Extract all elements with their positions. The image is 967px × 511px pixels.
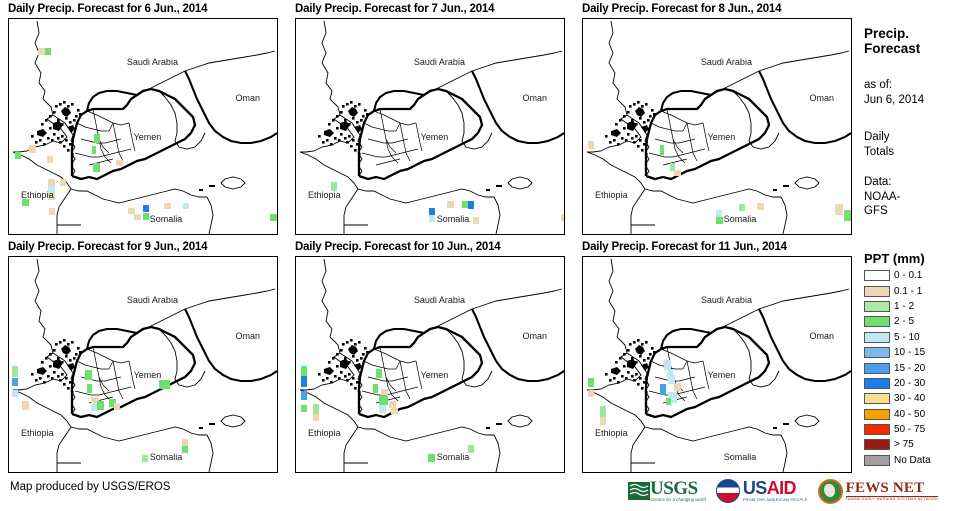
precip-cell <box>429 215 435 222</box>
legend-color-swatch <box>864 455 890 466</box>
legend-row: 50 - 75 <box>864 422 967 437</box>
precip-cell <box>660 145 664 155</box>
legend-label: 2 - 5 <box>894 316 914 327</box>
map-credit: Map produced by USGS/EROS <box>10 481 170 493</box>
panel-title: Daily Precip. Forecast for 10 Jun., 2014 <box>293 240 579 255</box>
usaid-logo-subtext: FROM THE AMERICAN PEOPLE <box>743 497 808 502</box>
legend-label: 20 - 30 <box>894 378 925 389</box>
map-label-yemen: Yemen <box>708 132 736 142</box>
precip-cell <box>182 439 188 446</box>
legend-row: > 75 <box>864 437 967 452</box>
precip-cell <box>48 179 54 186</box>
usaid-seal-icon <box>716 479 740 503</box>
usaid-logo-text: USAID <box>743 480 808 497</box>
legend-color-swatch <box>864 301 890 312</box>
precip-cell <box>49 208 55 215</box>
precip-cell <box>588 390 594 398</box>
fews-net-logo-subtext: FAMINE EARLY WARNING SYSTEMS NETWORK <box>846 497 938 502</box>
map-label-oman: Oman <box>809 331 834 341</box>
map-label-yemen: Yemen <box>421 132 449 142</box>
fews-net-logo: FEWS NET FAMINE EARLY WARNING SYSTEMS NE… <box>818 477 938 505</box>
precip-cell <box>301 405 307 413</box>
legend-color-swatch <box>864 286 890 297</box>
precip-cell <box>588 378 594 387</box>
forecast-panel-2: Daily Precip. Forecast for 7 Jun., 2014S… <box>293 2 579 239</box>
map-label-ethiopia: Ethiopia <box>21 428 54 438</box>
usgs-logo-subtext: science for a changing world <box>650 497 706 502</box>
precip-cell <box>12 378 17 387</box>
panel-title: Daily Precip. Forecast for 7 Jun., 2014 <box>293 2 579 17</box>
precip-cell <box>674 383 681 390</box>
map-label-oman: Oman <box>522 93 547 103</box>
legend-color-swatch <box>864 393 890 404</box>
map-label-somalia: Somalia <box>150 452 183 462</box>
sidebar-title-line2: Forecast <box>864 41 964 56</box>
usgs-wave-icon <box>628 482 650 500</box>
fews-globe-icon <box>818 479 843 504</box>
panel-title: Daily Precip. Forecast for 6 Jun., 2014 <box>6 2 292 17</box>
legend-row: 0 - 0.1 <box>864 268 967 283</box>
precip-cell <box>47 156 53 163</box>
precip-cell <box>12 390 17 398</box>
precip-cell <box>270 214 276 221</box>
map-label-ethiopia: Ethiopia <box>308 190 341 200</box>
precip-cell <box>22 199 28 206</box>
map-label-saudi-arabia: Saudi Arabia <box>701 295 752 305</box>
precip-cell <box>757 203 763 210</box>
precip-cell-layer <box>9 257 277 472</box>
map-label-somalia: Somalia <box>150 214 183 224</box>
map-label-ethiopia: Ethiopia <box>21 190 54 200</box>
precip-cell <box>93 163 101 172</box>
precip-cell-layer <box>583 257 851 472</box>
precip-cell <box>29 145 35 152</box>
precip-cell <box>22 401 30 410</box>
legend-row: 10 - 15 <box>864 345 967 360</box>
precip-cell <box>12 366 17 376</box>
legend-label: 0 - 0.1 <box>894 270 922 281</box>
legend-sidebar: Precip. Forecast as of: Jun 6, 2014 Dail… <box>862 0 967 511</box>
legend-color-swatch <box>864 332 890 343</box>
legend-row: 30 - 40 <box>864 391 967 406</box>
legend-row: 40 - 50 <box>864 407 967 422</box>
precip-cell-layer <box>583 19 851 234</box>
panel-title: Daily Precip. Forecast for 9 Jun., 2014 <box>6 240 292 255</box>
precip-cell <box>373 384 378 393</box>
daily-totals-block: Daily Totals <box>864 130 964 159</box>
precip-cell <box>381 389 387 395</box>
precip-cell <box>313 404 319 414</box>
map-label-oman: Oman <box>809 93 834 103</box>
as-of-block: as of: Jun 6, 2014 <box>864 78 964 107</box>
data-source-block: Data: NOAA- GFS <box>864 175 964 219</box>
precip-cell <box>301 376 307 387</box>
precip-cell <box>844 210 850 220</box>
fews-net-logo-text: FEWS NET <box>846 481 938 497</box>
data-source-line1: NOAA- <box>864 190 964 205</box>
map-label-saudi-arabia: Saudi Arabia <box>127 57 178 67</box>
precip-cell <box>94 134 99 143</box>
precip-cell <box>87 384 91 393</box>
legend-row: 1 - 2 <box>864 299 967 314</box>
map-label-saudi-arabia: Saudi Arabia <box>414 295 465 305</box>
precip-cell <box>391 408 398 414</box>
map-frame: Saudi ArabiaOmanYemenEthiopiaSomalia <box>295 18 565 235</box>
legend-label: 50 - 75 <box>894 424 925 435</box>
precip-cell <box>164 203 170 209</box>
map-label-somalia: Somalia <box>724 214 757 224</box>
forecast-panel-1: Daily Precip. Forecast for 6 Jun., 2014S… <box>6 2 292 239</box>
usaid-logo-text-aid: AID <box>767 478 796 498</box>
precip-cell <box>85 370 92 380</box>
precip-cell <box>739 204 745 211</box>
legend-color-swatch <box>864 378 890 389</box>
map-frame: Saudi ArabiaOmanYemenEthiopiaSomalia <box>8 18 278 235</box>
usgs-logo: USGS science for a changing world <box>628 477 706 505</box>
map-label-oman: Oman <box>522 331 547 341</box>
legend-color-swatch <box>864 424 890 435</box>
precip-cell <box>134 214 140 220</box>
panel-title: Daily Precip. Forecast for 11 Jun., 2014 <box>580 240 866 255</box>
map-label-ethiopia: Ethiopia <box>595 190 628 200</box>
precip-cell <box>313 414 319 422</box>
precip-cell <box>660 384 665 394</box>
precip-cell <box>143 205 149 213</box>
map-label-yemen: Yemen <box>134 132 162 142</box>
map-frame: Saudi ArabiaOmanYemenEthiopiaSomalia <box>8 256 278 473</box>
legend-color-swatch <box>864 270 890 281</box>
legend-label: 1 - 2 <box>894 301 914 312</box>
daily-totals-line1: Daily <box>864 130 964 145</box>
legend-label: 30 - 40 <box>894 393 925 404</box>
precip-cell <box>92 146 96 153</box>
precip-cell <box>301 366 307 376</box>
legend-label: 10 - 15 <box>894 347 925 358</box>
forecast-panel-grid: Daily Precip. Forecast for 6 Jun., 2014S… <box>0 0 855 470</box>
ppt-legend-list: 0 - 0.10.1 - 11 - 22 - 55 - 1010 - 1515 … <box>864 268 967 468</box>
data-source-label: Data: <box>864 175 964 190</box>
sidebar-title: Precip. Forecast <box>864 26 964 56</box>
ppt-legend-header: PPT (mm) <box>864 251 925 266</box>
daily-totals-line2: Totals <box>864 145 964 160</box>
map-label-yemen: Yemen <box>134 370 162 380</box>
usgs-logo-text: USGS <box>650 480 706 497</box>
legend-label: 0.1 - 1 <box>894 286 922 297</box>
map-frame: Saudi ArabiaOmanYemenEthiopiaSomalia <box>582 18 852 235</box>
precip-cell <box>674 170 680 176</box>
precip-cell <box>588 141 594 149</box>
legend-color-swatch <box>864 439 890 450</box>
precip-cell <box>15 152 21 159</box>
map-label-yemen: Yemen <box>708 370 736 380</box>
legend-row: 20 - 30 <box>864 376 967 391</box>
panel-title: Daily Precip. Forecast for 8 Jun., 2014 <box>580 2 866 17</box>
precip-cell <box>716 217 722 224</box>
precip-cell <box>159 380 170 389</box>
agency-logo-row: USGS science for a changing world USAID … <box>628 476 938 506</box>
precip-cell <box>561 214 565 222</box>
sidebar-title-line1: Precip. <box>864 26 964 41</box>
map-label-somalia: Somalia <box>437 214 470 224</box>
map-label-somalia: Somalia <box>437 452 470 462</box>
precip-cell <box>835 204 844 214</box>
precip-cell <box>91 403 97 411</box>
legend-label: 5 - 10 <box>894 332 920 343</box>
map-label-somalia: Somalia <box>724 452 757 462</box>
precip-cell <box>97 401 104 410</box>
precip-cell-layer <box>296 19 564 234</box>
precip-cell <box>428 454 435 462</box>
precip-cell <box>183 203 189 209</box>
forecast-panel-3: Daily Precip. Forecast for 8 Jun., 2014S… <box>580 2 866 239</box>
map-label-oman: Oman <box>235 93 260 103</box>
legend-label: > 75 <box>894 439 914 450</box>
legend-row: No Data <box>864 453 967 468</box>
legend-row: 0.1 - 1 <box>864 283 967 298</box>
legend-color-swatch <box>864 409 890 420</box>
map-frame: Saudi ArabiaOmanYemenEthiopiaSomalia <box>295 256 565 473</box>
precip-cell <box>60 179 66 186</box>
as-of-value: Jun 6, 2014 <box>864 93 964 108</box>
usaid-logo: USAID FROM THE AMERICAN PEOPLE <box>716 477 808 505</box>
legend-color-swatch <box>864 347 890 358</box>
legend-label: No Data <box>894 455 931 466</box>
precip-cell <box>468 201 474 209</box>
as-of-label: as of: <box>864 78 964 93</box>
legend-row: 15 - 20 <box>864 360 967 375</box>
precip-cell-layer <box>296 257 564 472</box>
map-label-saudi-arabia: Saudi Arabia <box>701 57 752 67</box>
legend-color-swatch <box>864 363 890 374</box>
precip-cell <box>182 446 188 454</box>
precip-cell <box>447 201 453 208</box>
precip-cell <box>142 455 148 462</box>
precip-cell <box>600 406 606 416</box>
map-frame: Saudi ArabiaOmanYemenEthiopiaSomalia <box>582 256 852 473</box>
usaid-logo-text-us: US <box>743 478 767 498</box>
precip-cell <box>114 403 120 409</box>
precip-cell <box>143 213 149 220</box>
legend-label: 40 - 50 <box>894 409 925 420</box>
precip-cell <box>379 405 386 413</box>
map-label-oman: Oman <box>235 331 260 341</box>
precip-cell <box>600 417 606 425</box>
forecast-panel-4: Daily Precip. Forecast for 9 Jun., 2014S… <box>6 240 292 477</box>
forecast-panel-5: Daily Precip. Forecast for 10 Jun., 2014… <box>293 240 579 477</box>
precip-cell <box>376 369 381 379</box>
data-source-line2: GFS <box>864 204 964 219</box>
map-label-ethiopia: Ethiopia <box>595 428 628 438</box>
precip-cell <box>666 398 671 406</box>
precip-cell <box>301 391 307 400</box>
legend-row: 5 - 10 <box>864 330 967 345</box>
map-label-saudi-arabia: Saudi Arabia <box>127 295 178 305</box>
map-label-saudi-arabia: Saudi Arabia <box>414 57 465 67</box>
map-label-ethiopia: Ethiopia <box>308 428 341 438</box>
forecast-panel-6: Daily Precip. Forecast for 11 Jun., 2014… <box>580 240 866 477</box>
legend-label: 15 - 20 <box>894 363 925 374</box>
precip-cell <box>45 48 51 56</box>
precip-cell <box>116 160 122 166</box>
map-label-yemen: Yemen <box>421 370 449 380</box>
precip-cell-layer <box>9 19 277 234</box>
precip-cell <box>473 217 479 223</box>
legend-row: 2 - 5 <box>864 314 967 329</box>
legend-color-swatch <box>864 316 890 327</box>
